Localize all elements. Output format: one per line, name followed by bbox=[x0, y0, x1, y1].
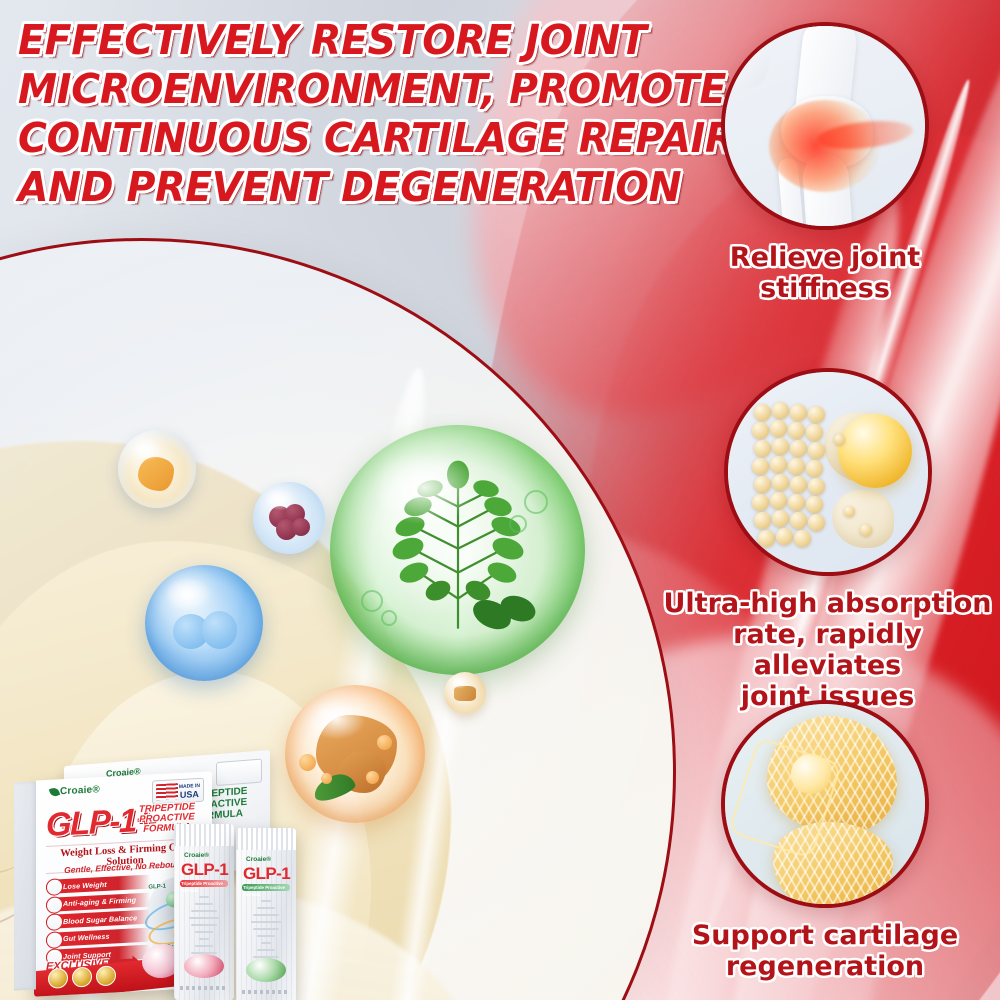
sachet-name: GLP-1 bbox=[181, 860, 228, 880]
brand-name: Croaie® bbox=[60, 784, 100, 797]
leaf-icon bbox=[49, 786, 60, 798]
feature-caption: Ultra-high absorption rate, rapidly alle… bbox=[655, 588, 1000, 712]
feature-caption-line-1: Support cartilage bbox=[660, 920, 990, 951]
made-in-usa-badge: MADE IN USA bbox=[152, 778, 204, 805]
headline-line-1: EFFECTIVELY RESTORE JOINT bbox=[18, 16, 690, 65]
sachet-subtitle: Tripeptide Proactive Formula bbox=[243, 884, 296, 898]
knee-anatomy-art bbox=[725, 26, 925, 226]
sachet-mint: Croaie® GLP-1 Tripeptide Proactive Formu… bbox=[236, 828, 296, 1000]
sachet-berry: Croaie® GLP-1 Tripeptide Proactive Formu… bbox=[174, 824, 234, 1000]
headline-line-3: CONTINUOUS CARTILAGE REPAIR, bbox=[18, 114, 690, 163]
sachet-seal bbox=[236, 828, 296, 850]
sachet-seal bbox=[174, 824, 234, 846]
sachet-subtitle: Tripeptide Proactive Formula bbox=[181, 880, 234, 894]
cartilage-mesh-regeneration-icon bbox=[721, 700, 929, 908]
benefit-item: Blood Sugar Balance bbox=[46, 910, 150, 929]
benefit-label: Gut Wellness bbox=[63, 932, 110, 943]
benefit-icon bbox=[46, 878, 63, 896]
benefit-label: Blood Sugar Balance bbox=[63, 913, 137, 926]
cartilage-lump-bottom bbox=[832, 490, 894, 548]
absorbed-pearl-3 bbox=[860, 524, 872, 536]
feature-caption-line-1: Ultra-high absorption bbox=[655, 588, 1000, 619]
benefit-icon bbox=[46, 913, 63, 931]
molecule-ring-2 bbox=[509, 515, 527, 533]
cartilage-mesh-art bbox=[725, 704, 925, 904]
molecule-ring-4 bbox=[381, 610, 397, 626]
feature-caption: Support cartilage regeneration bbox=[660, 920, 990, 982]
sachet-bottom-seal bbox=[242, 990, 290, 994]
sachet-name: GLP-1 bbox=[243, 864, 290, 884]
benefit-item: Lose Weight bbox=[46, 875, 150, 894]
glp1-callout-label: GLP-1 bbox=[148, 884, 166, 891]
molecule-ring-3 bbox=[361, 590, 383, 612]
collagen-blue-sphere bbox=[145, 565, 263, 681]
headline: EFFECTIVELY RESTORE JOINT MICROENVIRONME… bbox=[18, 16, 718, 212]
feature-ultra-high-absorption: Ultra-high absorption rate, rapidly alle… bbox=[655, 368, 1000, 712]
benefit-item: Anti-aging & Firming bbox=[46, 892, 150, 911]
honey-drip bbox=[138, 457, 174, 491]
gold-molecule-absorption-icon bbox=[724, 368, 932, 576]
absorption-art bbox=[728, 372, 928, 572]
usa-flag-icon bbox=[156, 783, 178, 800]
ginger-chunk bbox=[454, 686, 476, 700]
absorbed-pearl-1 bbox=[834, 434, 845, 445]
promotional-poster: EFFECTIVELY RESTORE JOINT MICROENVIRONME… bbox=[0, 0, 1000, 1000]
molecule-ring-1 bbox=[524, 490, 548, 514]
knee-joint-inflammation-icon bbox=[721, 22, 929, 230]
berry-flavor-image bbox=[184, 954, 224, 978]
headline-line-4: AND PREVENT DEGENERATION bbox=[18, 163, 690, 212]
usa-label: USA bbox=[179, 790, 200, 799]
gold-oil-droplet bbox=[838, 414, 912, 488]
sachet-bottom-seal bbox=[180, 986, 228, 990]
oil-bead-3 bbox=[366, 771, 379, 784]
feature-caption: Relieve joint stiffness bbox=[660, 242, 990, 304]
benefit-label: Anti-aging & Firming bbox=[63, 895, 136, 908]
feature-support-cartilage-regeneration: Support cartilage regeneration bbox=[660, 700, 990, 982]
absorbed-pearl-2 bbox=[844, 506, 855, 517]
berry-sphere bbox=[253, 482, 325, 554]
feature-caption-line-2: regeneration bbox=[660, 951, 990, 982]
turmeric-root-sphere bbox=[285, 685, 425, 823]
honey-amber-sphere bbox=[118, 430, 196, 508]
sachet-group: Croaie® GLP-1 Tripeptide Proactive Formu… bbox=[174, 824, 306, 1000]
mint-flavor-image bbox=[246, 958, 286, 982]
berry-4 bbox=[292, 518, 310, 536]
made-in-usa-text: MADE IN USA bbox=[179, 782, 200, 799]
feature-relieve-joint-stiffness: Relieve joint stiffness bbox=[660, 22, 990, 304]
product-box-spine bbox=[14, 781, 36, 990]
benefit-item: Gut Wellness bbox=[46, 927, 150, 946]
collagen-cell-b bbox=[202, 611, 237, 648]
sachet-brand: Croaie® bbox=[246, 856, 271, 863]
patella-bone bbox=[725, 26, 769, 88]
benefit-icon bbox=[46, 896, 63, 914]
oil-bead-2 bbox=[377, 735, 392, 750]
ginger-amber-sphere bbox=[444, 672, 486, 714]
moringa-leaf-sphere bbox=[330, 425, 585, 675]
benefit-label: Lose Weight bbox=[63, 879, 107, 890]
benefit-icon bbox=[46, 931, 63, 949]
feature-caption-line-2: stiffness bbox=[660, 273, 990, 304]
product-pack: Croaie® TRIPEPTIDE PROACTIVE FORMULA Cro… bbox=[6, 752, 306, 1000]
headline-line-2: MICROENVIRONMENT, PROMOTE bbox=[18, 65, 690, 114]
sachet-brand: Croaie® bbox=[184, 852, 209, 859]
feature-caption-line-1: Relieve joint bbox=[660, 242, 990, 273]
feature-caption-line-2: rate, rapidly alleviates bbox=[655, 619, 1000, 681]
made-in-usa-badge bbox=[216, 759, 262, 787]
